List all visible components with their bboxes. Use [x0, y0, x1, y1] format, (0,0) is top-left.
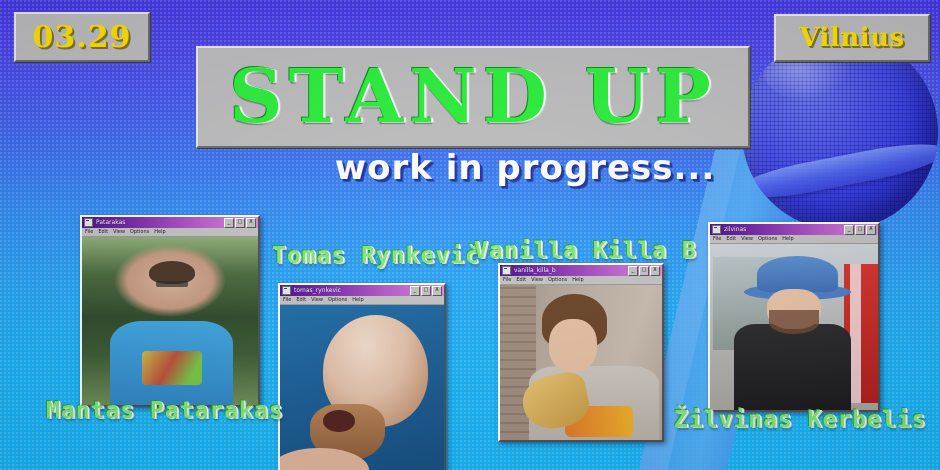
- city-badge: Vilnius: [774, 14, 930, 62]
- photo-detail-shirt-print: [142, 351, 202, 385]
- performer-name-zilvinas: Žilvinas Kerbelis: [674, 407, 926, 433]
- photo-detail-glasses: [156, 281, 188, 288]
- minimize-button[interactable]: _: [224, 218, 234, 228]
- window-title: tomas_rynkevic: [294, 287, 407, 294]
- menu-item-edit[interactable]: Edit: [516, 277, 526, 283]
- photo-detail-bucket-hat: [757, 256, 838, 293]
- menu-item-edit[interactable]: Edit: [98, 229, 108, 235]
- menu-item-help[interactable]: Help: [782, 236, 793, 242]
- window-menubar[interactable]: File Edit View Options Help: [710, 235, 878, 244]
- close-button[interactable]: X: [246, 218, 256, 228]
- menu-item-edit[interactable]: Edit: [296, 297, 306, 303]
- photo-artwork: [280, 305, 444, 470]
- menu-item-help[interactable]: Help: [352, 297, 363, 303]
- menu-item-file[interactable]: File: [85, 229, 93, 235]
- subtitle: work in progress...: [0, 148, 940, 188]
- close-button[interactable]: X: [866, 225, 876, 235]
- photo-artwork: [82, 237, 258, 405]
- menu-item-options[interactable]: Options: [328, 297, 347, 303]
- performer-photo-vanilla: [500, 285, 662, 440]
- menu-item-help[interactable]: Help: [572, 277, 583, 283]
- window-title: Patarakas: [96, 219, 221, 226]
- close-button[interactable]: X: [432, 286, 442, 296]
- minimize-button[interactable]: _: [410, 286, 420, 296]
- window-icon: [282, 286, 291, 295]
- menu-item-view[interactable]: View: [311, 297, 323, 303]
- photo-window-tomas[interactable]: tomas_rynkevic _ □ X File Edit View Opti…: [278, 283, 446, 470]
- microphone-head-icon: [742, 34, 938, 230]
- minimize-button[interactable]: _: [844, 225, 854, 235]
- maximize-button[interactable]: □: [421, 286, 431, 296]
- performer-photo-zilvinas: [710, 244, 878, 410]
- window-menubar[interactable]: File Edit View Options Help: [82, 228, 258, 237]
- date-badge-label: 03.29: [33, 20, 132, 55]
- window-titlebar[interactable]: zilvinas _ □ X: [710, 224, 878, 235]
- photo-window-vanilla[interactable]: vanilla_killa_b _ □ X File Edit View Opt…: [498, 263, 664, 442]
- maximize-button[interactable]: □: [235, 218, 245, 228]
- title-panel: STAND UP: [196, 46, 750, 148]
- photo-window-mantas[interactable]: Patarakas _ □ X File Edit View Options H…: [80, 215, 260, 407]
- photo-artwork: [500, 285, 662, 440]
- window-title: zilvinas: [724, 226, 841, 233]
- menu-item-file[interactable]: File: [503, 277, 511, 283]
- window-menubar[interactable]: File Edit View Options Help: [280, 296, 444, 305]
- date-badge: 03.29: [14, 12, 150, 62]
- window-titlebar[interactable]: tomas_rynkevic _ □ X: [280, 285, 444, 296]
- maximize-button[interactable]: □: [855, 225, 865, 235]
- menu-item-view[interactable]: View: [531, 277, 543, 283]
- maximize-button[interactable]: □: [639, 266, 649, 276]
- performer-name-tomas: Tomas Rynkevič: [272, 243, 480, 269]
- menu-item-options[interactable]: Options: [130, 229, 149, 235]
- window-title: vanilla_killa_b: [514, 267, 625, 274]
- menu-item-file[interactable]: File: [283, 297, 291, 303]
- photo-detail-face: [549, 319, 598, 372]
- window-controls[interactable]: _ □ X: [224, 218, 256, 228]
- window-titlebar[interactable]: vanilla_killa_b _ □ X: [500, 265, 662, 276]
- window-titlebar[interactable]: Patarakas _ □ X: [82, 217, 258, 228]
- window-icon: [84, 218, 93, 227]
- menu-item-view[interactable]: View: [741, 236, 753, 242]
- window-controls[interactable]: _ □ X: [844, 225, 876, 235]
- window-controls[interactable]: _ □ X: [410, 286, 442, 296]
- performer-photo-mantas: [82, 237, 258, 405]
- photo-detail-beard: [769, 310, 819, 333]
- photo-artwork: [710, 244, 878, 410]
- city-badge-label: Vilnius: [799, 23, 904, 53]
- window-menubar[interactable]: File Edit View Options Help: [500, 276, 662, 285]
- menu-item-edit[interactable]: Edit: [726, 236, 736, 242]
- photo-window-zilvinas[interactable]: zilvinas _ □ X File Edit View Options He…: [708, 222, 880, 412]
- photo-detail-tshirt: [734, 324, 852, 410]
- window-controls[interactable]: _ □ X: [628, 266, 660, 276]
- menu-item-options[interactable]: Options: [548, 277, 567, 283]
- menu-item-view[interactable]: View: [113, 229, 125, 235]
- performer-name-vanilla: Vanilla Killa B: [474, 238, 697, 264]
- microphone-mesh-pattern: [742, 34, 938, 230]
- window-icon: [502, 266, 511, 275]
- poster-canvas: 03.29 Vilnius STAND UP work in progress.…: [0, 0, 940, 470]
- menu-item-file[interactable]: File: [713, 236, 721, 242]
- performer-photo-tomas: [280, 305, 444, 470]
- minimize-button[interactable]: _: [628, 266, 638, 276]
- page-title: STAND UP: [229, 60, 717, 134]
- menu-item-help[interactable]: Help: [154, 229, 165, 235]
- window-icon: [712, 225, 721, 234]
- performer-name-mantas: Mantas Patarakas: [46, 398, 284, 424]
- close-button[interactable]: X: [650, 266, 660, 276]
- menu-item-options[interactable]: Options: [758, 236, 777, 242]
